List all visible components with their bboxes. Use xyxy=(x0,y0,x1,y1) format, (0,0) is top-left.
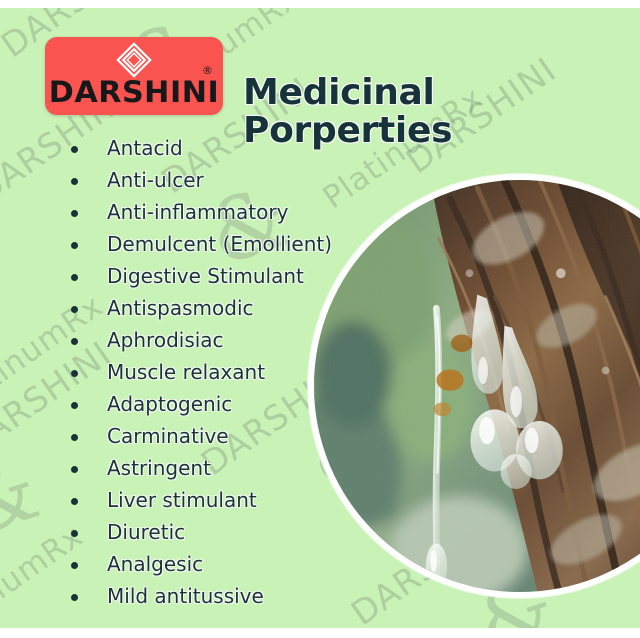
list-item: Anti-inflammatory xyxy=(62,196,332,228)
list-item: Mild antitussive xyxy=(62,580,332,612)
list-item: Diuretic xyxy=(62,516,332,548)
watermark-ampersand: & xyxy=(0,438,51,557)
list-item: Muscle relaxant xyxy=(62,356,332,388)
list-item: Aphrodisiac xyxy=(62,324,332,356)
list-item: Antispasmodic xyxy=(62,292,332,324)
poster-canvas: DARSHINI DARSHINI DARSHINI DARSHINI DARS… xyxy=(0,0,640,638)
list-item: Antacid xyxy=(62,132,332,164)
list-item: Carminative xyxy=(62,420,332,452)
list-item: Astringent xyxy=(62,452,332,484)
list-item: Digestive Stimulant xyxy=(62,260,332,292)
list-item: Demulcent (Emollient) xyxy=(62,228,332,260)
product-photo xyxy=(308,174,640,598)
list-item: Adaptogenic xyxy=(62,388,332,420)
green-background-panel: DARSHINI DARSHINI DARSHINI DARSHINI DARS… xyxy=(0,8,640,628)
list-item: Liver stimulant xyxy=(62,484,332,516)
registered-mark-icon: ® xyxy=(202,64,213,77)
list-item: Anti-ulcer xyxy=(62,164,332,196)
tree-bark-resin-image xyxy=(314,180,640,592)
list-item: Analgesic xyxy=(62,548,332,580)
brand-wordmark: DARSHINI xyxy=(45,78,223,107)
medicinal-properties-list: Antacid Anti-ulcer Anti-inflammatory Dem… xyxy=(62,132,332,612)
diamond-icon xyxy=(116,42,152,78)
brand-logo: DARSHINI ® xyxy=(45,37,223,115)
